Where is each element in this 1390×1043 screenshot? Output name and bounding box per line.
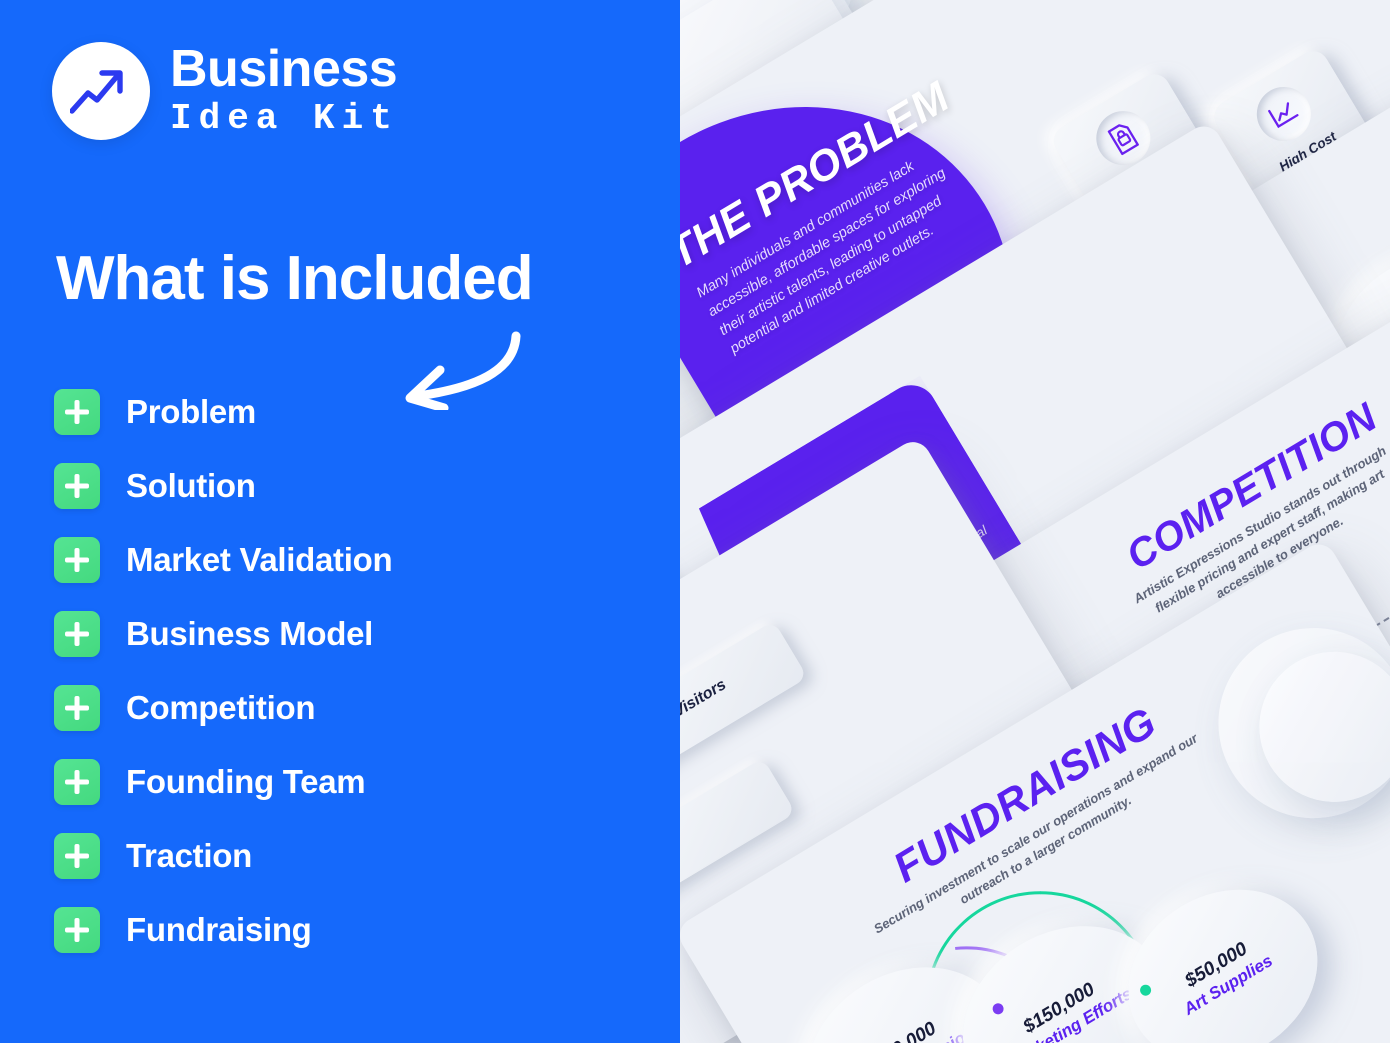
list-item-label: Problem xyxy=(126,393,256,431)
list-item[interactable]: Founding Team xyxy=(54,756,654,808)
list-item[interactable]: Problem xyxy=(54,386,654,438)
plus-icon xyxy=(54,463,100,509)
list-item-label: Solution xyxy=(126,467,256,505)
plus-icon xyxy=(54,389,100,435)
page-title: What is Included xyxy=(56,248,533,310)
list-item-label: Founding Team xyxy=(126,763,365,801)
poster-canvas: THE PROBLEM Many individuals and communi… xyxy=(0,0,1390,1043)
list-item[interactable]: Market Validation xyxy=(54,534,654,586)
left-info-panel: Business Idea Kit What is Included Probl… xyxy=(0,0,680,1043)
brand-logo[interactable]: Business Idea Kit xyxy=(52,42,399,140)
plus-icon xyxy=(54,759,100,805)
plus-icon xyxy=(54,685,100,731)
list-item[interactable]: Fundraising xyxy=(54,904,654,956)
list-item-label: Fundraising xyxy=(126,911,312,949)
growth-chart-circle-icon xyxy=(52,42,150,140)
list-item[interactable]: Traction xyxy=(54,830,654,882)
list-item-label: Traction xyxy=(126,837,252,875)
list-item-label: Competition xyxy=(126,689,315,727)
plus-icon xyxy=(54,833,100,879)
plus-icon xyxy=(54,611,100,657)
brand-name-primary: Business xyxy=(170,43,399,95)
list-item-label: Market Validation xyxy=(126,541,392,579)
plus-icon xyxy=(54,537,100,583)
plus-icon xyxy=(54,907,100,953)
brand-name-secondary: Idea Kit xyxy=(170,99,399,139)
list-item-label: Business Model xyxy=(126,615,373,653)
list-item[interactable]: Competition xyxy=(54,682,654,734)
list-item[interactable]: Solution xyxy=(54,460,654,512)
line-chart-icon xyxy=(1247,77,1321,151)
list-item[interactable]: Business Model xyxy=(54,608,654,660)
included-items-list: Problem Solution Market Validation Busin… xyxy=(54,386,654,978)
